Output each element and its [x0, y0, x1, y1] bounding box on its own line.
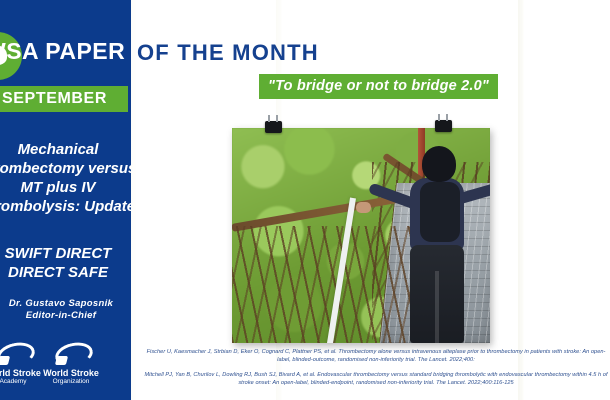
logo-world-stroke-organization: World Stroke Organization: [40, 340, 102, 386]
logo-world-stroke-academy: World Stroke Academy: [0, 340, 44, 386]
brand-title-prefix: WSA PAPER: [0, 38, 131, 65]
logo-name-line2: Academy: [0, 378, 44, 386]
left-blue-panel: WSA PAPER SEPTEMBER Mechanical thrombect…: [0, 0, 131, 400]
paper-title: Mechanical thrombectomy versus MT plus I…: [0, 140, 131, 216]
backpack: [420, 182, 460, 242]
trial-names: SWIFT DIRECT DIRECT SAFE: [0, 244, 131, 282]
citation-2: Mitchell PJ, Yan B, Churilov L, Dowling …: [142, 372, 610, 387]
person-on-bridge: [382, 146, 486, 343]
citation-1: Fischer U, Kaesmacher J, Strbian D, Eker…: [142, 349, 610, 364]
page-title: OF THE MONTH: [137, 40, 319, 66]
person-hand-left: [356, 202, 371, 213]
logo-name-line2: Organization: [40, 378, 102, 386]
slide-canvas: WSA PAPER SEPTEMBER Mechanical thrombect…: [0, 0, 610, 400]
photo-frame: [232, 128, 490, 343]
world-stroke-organization-mark-icon: [51, 340, 91, 366]
editor-credit: Dr. Gustavo Saposnik Editor-in-Chief: [0, 298, 131, 322]
footer-logos: World Stroke Academy World Stroke Organi…: [0, 340, 131, 390]
bridge-photo: [232, 128, 490, 343]
world-stroke-academy-mark-icon: [0, 340, 33, 366]
editor-role: Editor-in-Chief: [0, 310, 131, 322]
binder-clip-right-icon: [435, 120, 452, 132]
month-band: SEPTEMBER: [0, 86, 128, 112]
binder-clip-left-icon: [265, 121, 282, 133]
person-legs: [410, 245, 464, 343]
logo-name-line1: World Stroke: [40, 368, 102, 378]
logo-name-line1: World Stroke: [0, 368, 44, 378]
person-head: [422, 146, 456, 182]
quote-banner: "To bridge or not to bridge 2.0": [259, 74, 498, 99]
editor-name: Dr. Gustavo Saposnik: [0, 298, 131, 310]
month-label: SEPTEMBER: [2, 90, 107, 108]
